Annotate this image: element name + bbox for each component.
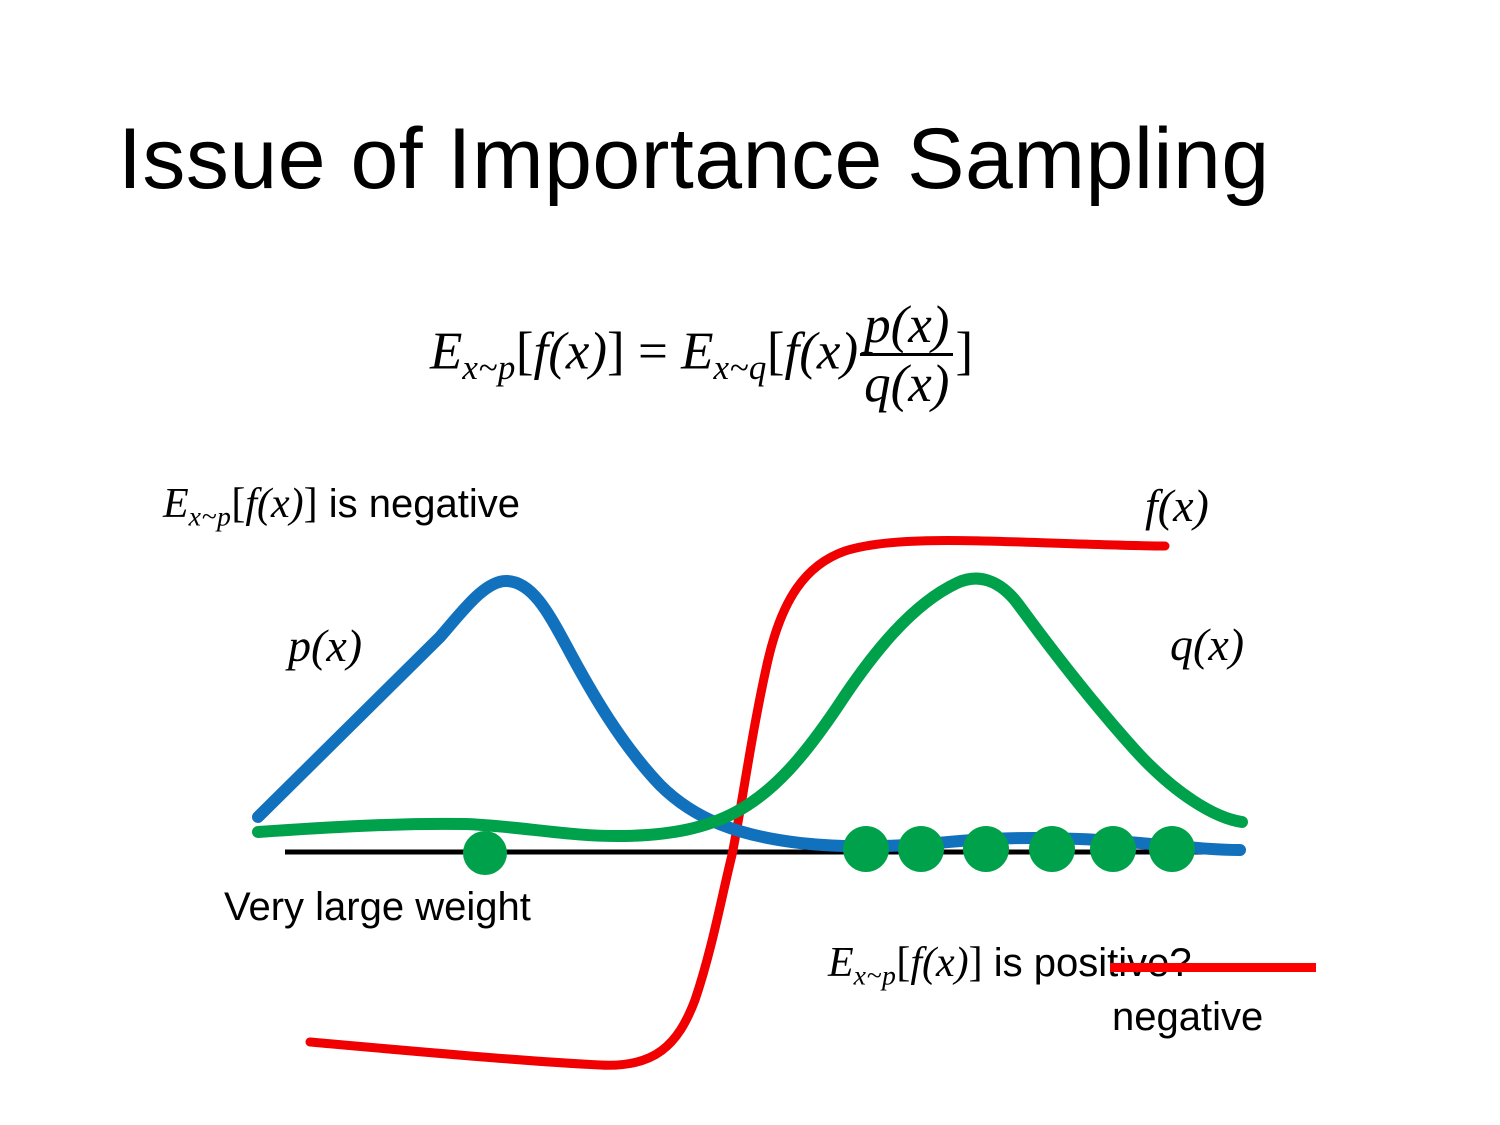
sample-dot — [1029, 826, 1075, 872]
sample-dot — [1149, 826, 1195, 872]
importance-sampling-figure — [0, 0, 1500, 1125]
sample-dot — [1090, 826, 1136, 872]
caption-very-large-weight: Very large weight — [224, 885, 531, 930]
right-bracket-open: [ — [896, 940, 910, 986]
curve-q-x — [258, 579, 1242, 836]
curve-label-f: f(x) — [1145, 479, 1209, 532]
right-bracket-close: ] — [969, 940, 983, 986]
correction-word-negative: negative — [1112, 995, 1263, 1040]
right-expectation-symbol: E — [828, 940, 854, 986]
highlighted-sample-dot — [463, 831, 507, 875]
right-f-symbol: f — [910, 940, 922, 986]
curve-label-p: p(x) — [288, 619, 362, 672]
right-f-arg: (x) — [922, 940, 969, 986]
right-expectation-subscript: x~p — [854, 959, 897, 990]
slide-canvas: Issue of Importance Sampling Ex~p[f(x)] … — [0, 0, 1500, 1125]
sample-dot — [898, 826, 944, 872]
curve-label-q: q(x) — [1170, 618, 1244, 671]
right-annotation-is-text: is — [983, 941, 1034, 985]
sample-dot — [843, 826, 889, 872]
red-strikethrough-line — [1110, 963, 1316, 972]
sample-dot — [963, 826, 1009, 872]
